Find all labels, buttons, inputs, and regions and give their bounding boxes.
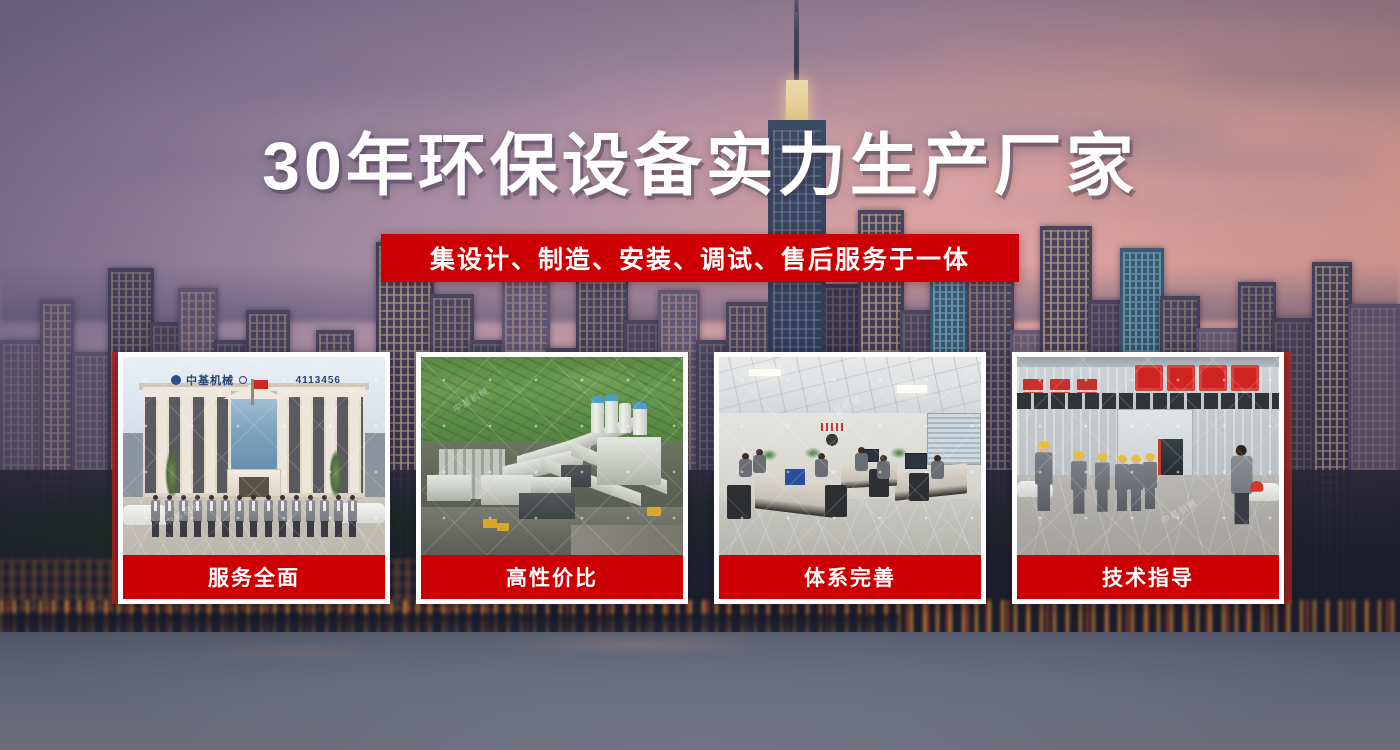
company-name: 中基机械 [186, 372, 234, 388]
subtitle-text: 集设计、制造、安装、调试、售后服务于一体 [430, 240, 970, 276]
feature-card-row: 中基机械 4113456 中基机械 服务全面 [118, 352, 1284, 604]
company-logo-icon [171, 375, 181, 385]
red-helmet-icon [1250, 481, 1263, 492]
tower-antenna [794, 0, 799, 82]
company-phone: 4113456 [296, 375, 341, 386]
promo-banner: 30年环保设备实力生产厂家 集设计、制造、安装、调试、售后服务于一体 [0, 0, 1400, 750]
feature-card-system[interactable]: 中基机械 体系完善 [714, 352, 986, 604]
card-caption: 高性价比 [421, 555, 683, 599]
photo-office-interior: 中基机械 [719, 357, 981, 555]
right-red-accent [1284, 352, 1292, 604]
card-caption: 技术指导 [1017, 555, 1279, 599]
photo-company-building: 中基机械 4113456 中基机械 [123, 357, 385, 555]
feature-card-value[interactable]: 中基机械 高性价比 [416, 352, 688, 604]
river-reflection [0, 632, 1400, 682]
photo-workers-lineup: 中基机械 [1017, 357, 1279, 555]
subtitle-banner: 集设计、制造、安装、调试、售后服务于一体 [381, 234, 1019, 282]
workshop-banner-text [1135, 363, 1279, 393]
feature-card-training[interactable]: 中基机械 技术指导 [1012, 352, 1284, 604]
feature-card-service[interactable]: 中基机械 4113456 中基机械 服务全面 [118, 352, 390, 604]
photo-plant-aerial: 中基机械 [421, 357, 683, 555]
building-signage: 中基机械 4113456 [171, 373, 341, 387]
card-caption: 体系完善 [719, 555, 981, 599]
card-caption: 服务全面 [123, 555, 385, 599]
page-title: 30年环保设备实力生产厂家 [0, 128, 1400, 204]
phone-icon [239, 376, 247, 384]
